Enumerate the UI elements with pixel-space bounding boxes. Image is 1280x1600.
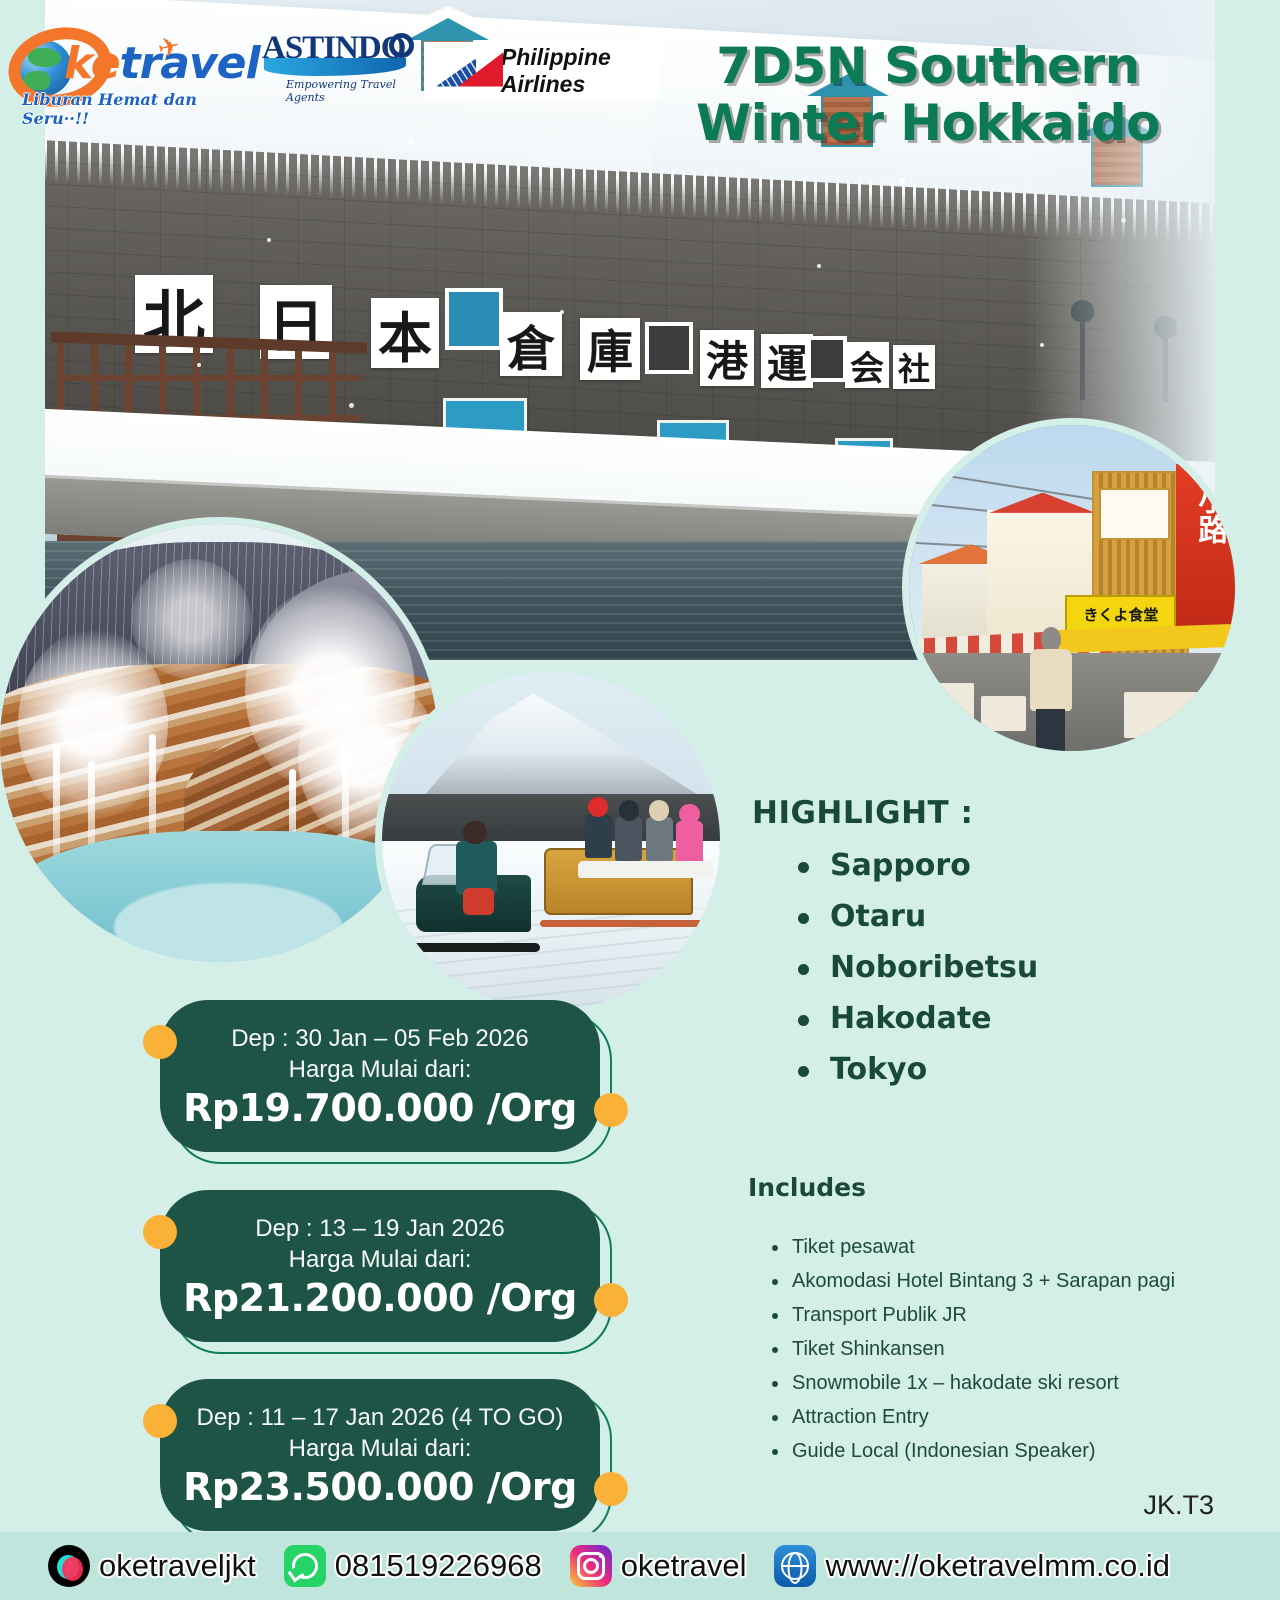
pal-wing-icon xyxy=(436,53,489,89)
price-card-departure: Dep : 11 – 17 Jan 2026 (4 TO GO) xyxy=(197,1404,564,1432)
hero-window-grey-2 xyxy=(807,336,847,382)
nobo-steam-4 xyxy=(131,559,251,679)
photo-circle-snowmobile xyxy=(375,665,727,1017)
price-card-body: Dep : 13 – 19 Jan 2026 Harga Mulai dari:… xyxy=(160,1190,600,1342)
sled-passenger-2 xyxy=(615,817,642,861)
price-card-departure: Dep : 13 – 19 Jan 2026 xyxy=(255,1215,505,1243)
whatsapp-icon xyxy=(284,1545,326,1587)
sled-passenger-4 xyxy=(676,821,703,865)
includes-item: Attraction Entry xyxy=(768,1406,1175,1429)
price-card-amount: Rp21.200.000 /Org xyxy=(183,1276,577,1320)
sled-seat-rail xyxy=(578,861,713,878)
footer-whatsapp[interactable]: 081519226968 xyxy=(284,1545,542,1587)
snowmobile-rider-body xyxy=(456,841,497,895)
pal-wordmark: Philippine Airlines xyxy=(501,44,661,98)
photo-circle-hakodate-market: 小路 きくよ食堂 xyxy=(902,418,1242,758)
price-card-dot-top-left xyxy=(143,1404,177,1438)
title-line-2: Winter Hokkaido xyxy=(668,95,1188,152)
sled-passenger-3-hat xyxy=(649,800,669,820)
includes-item: Tiket Shinkansen xyxy=(768,1338,1175,1361)
sled-passenger-4-hat xyxy=(679,804,699,824)
price-card-dot-bottom-right xyxy=(594,1472,628,1506)
oketravel-tagline: Liburan Hemat dan Seru··!! xyxy=(22,90,223,128)
market-stall-3 xyxy=(1124,692,1209,738)
sled-passenger-3 xyxy=(646,817,673,861)
instagram-handle: oketravel xyxy=(621,1548,747,1584)
hero-window-blue-1 xyxy=(445,288,503,350)
price-card-amount: Rp19.700.000 /Org xyxy=(183,1086,577,1130)
globe-web-icon xyxy=(774,1545,816,1587)
oketravel-logo: ketravel ✈ Liburan Hemat dan Seru··!! xyxy=(8,16,223,108)
hero-kanji-5: 庫 xyxy=(580,318,640,380)
astindo-tagline: Empowering Travel Agents xyxy=(286,78,412,104)
highlight-item: Tokyo xyxy=(790,1052,1038,1087)
contact-footer: ♪ oketraveljkt 081519226968 oketravel ww… xyxy=(0,1532,1280,1600)
hero-kanji-7: 運 xyxy=(761,334,813,388)
title-line-1: 7D5N Southern xyxy=(668,38,1188,95)
sled-passenger-2-hat xyxy=(619,800,639,820)
hero-kanji-9: 社 xyxy=(893,345,935,389)
philippine-airlines-logo: Philippine Airlines xyxy=(424,42,661,99)
oketravel-ke: ke xyxy=(64,38,120,89)
market-stall-2 xyxy=(981,696,1027,732)
footer-tiktok[interactable]: ♪ oketraveljkt xyxy=(48,1545,256,1587)
includes-list: Tiket pesawat Akomodasi Hotel Bintang 3 … xyxy=(768,1236,1175,1474)
hero-kanji-4: 倉 xyxy=(500,312,562,376)
footer-website[interactable]: www://oketravelmm.co.id xyxy=(774,1545,1170,1587)
astindo-circle-icon xyxy=(389,33,414,58)
market-shopper xyxy=(1030,627,1072,751)
whatsapp-number: 081519226968 xyxy=(335,1548,542,1584)
price-card[interactable]: Dep : 13 – 19 Jan 2026 Harga Mulai dari:… xyxy=(160,1190,600,1342)
highlight-item: Otaru xyxy=(790,899,1038,934)
website-url: www://oketravelmm.co.id xyxy=(825,1548,1170,1584)
market-stall-1 xyxy=(922,683,974,725)
highlight-title: HIGHLIGHT : xyxy=(752,795,973,831)
price-card[interactable]: Dep : 30 Jan – 05 Feb 2026 Harga Mulai d… xyxy=(160,1000,600,1152)
photo-circle-noboribetsu xyxy=(0,517,445,969)
oketravel-travel: travel xyxy=(120,38,260,89)
nobo-pool-highlight xyxy=(114,883,342,969)
includes-title: Includes xyxy=(748,1173,866,1202)
package-code: JK.T3 xyxy=(1143,1490,1214,1521)
price-card-amount: Rp23.500.000 /Org xyxy=(183,1465,577,1509)
sled-passenger-1 xyxy=(585,814,612,858)
astindo-swoosh-icon xyxy=(264,58,406,76)
poster-root: 北 日 本 倉 庫 港 運 会 社 xyxy=(0,0,1280,1600)
includes-item: Transport Publik JR xyxy=(768,1304,1175,1327)
price-card[interactable]: Dep : 11 – 17 Jan 2026 (4 TO GO) Harga M… xyxy=(160,1379,600,1531)
footer-instagram[interactable]: oketravel xyxy=(570,1545,747,1587)
price-card-from-label: Harga Mulai dari: xyxy=(289,1056,472,1084)
highlight-item: Noboribetsu xyxy=(790,950,1038,985)
includes-item: Guide Local (Indonesian Speaker) xyxy=(768,1440,1175,1463)
includes-item: Tiket pesawat xyxy=(768,1236,1175,1259)
price-card-body: Dep : 30 Jan – 05 Feb 2026 Harga Mulai d… xyxy=(160,1000,600,1152)
price-card-from-label: Harga Mulai dari: xyxy=(289,1246,472,1274)
highlight-list: Sapporo Otaru Noboribetsu Hakodate Tokyo xyxy=(790,848,1038,1103)
snow-forest xyxy=(375,794,727,848)
market-red-banner: 小路 xyxy=(1176,464,1241,634)
hero-window-grey-1 xyxy=(645,322,693,374)
hero-kanji-6: 港 xyxy=(700,330,754,386)
price-card-dot-bottom-right xyxy=(594,1283,628,1317)
includes-item: Akomodasi Hotel Bintang 3 + Sarapan pagi xyxy=(768,1270,1175,1293)
price-card-dot-top-left xyxy=(143,1215,177,1249)
price-card-from-label: Harga Mulai dari: xyxy=(289,1435,472,1463)
hero-kanji-8: 会 xyxy=(845,342,889,388)
price-card-departure: Dep : 30 Jan – 05 Feb 2026 xyxy=(231,1025,529,1053)
hero-kanji-3: 本 xyxy=(371,298,439,368)
snowmobile-rider-legs xyxy=(463,888,493,915)
price-card-body: Dep : 11 – 17 Jan 2026 (4 TO GO) Harga M… xyxy=(160,1379,600,1531)
astindo-logo: ASTINDO Empowering Travel Agents xyxy=(262,30,412,102)
market-red-sign-text: 小路 xyxy=(1194,484,1225,544)
tiktok-handle: oketraveljkt xyxy=(99,1548,256,1584)
snowmobile-rider-head xyxy=(463,821,487,845)
includes-item: Snowmobile 1x – hakodate ski resort xyxy=(768,1372,1175,1395)
page-title: 7D5N Southern Winter Hokkaido xyxy=(668,38,1188,152)
highlight-item: Sapporo xyxy=(790,848,1038,883)
price-card-dot-bottom-right xyxy=(594,1093,628,1127)
instagram-icon xyxy=(570,1545,612,1587)
price-card-dot-top-left xyxy=(143,1025,177,1059)
highlight-item: Hakodate xyxy=(790,1001,1038,1036)
tiktok-icon: ♪ xyxy=(48,1545,90,1587)
